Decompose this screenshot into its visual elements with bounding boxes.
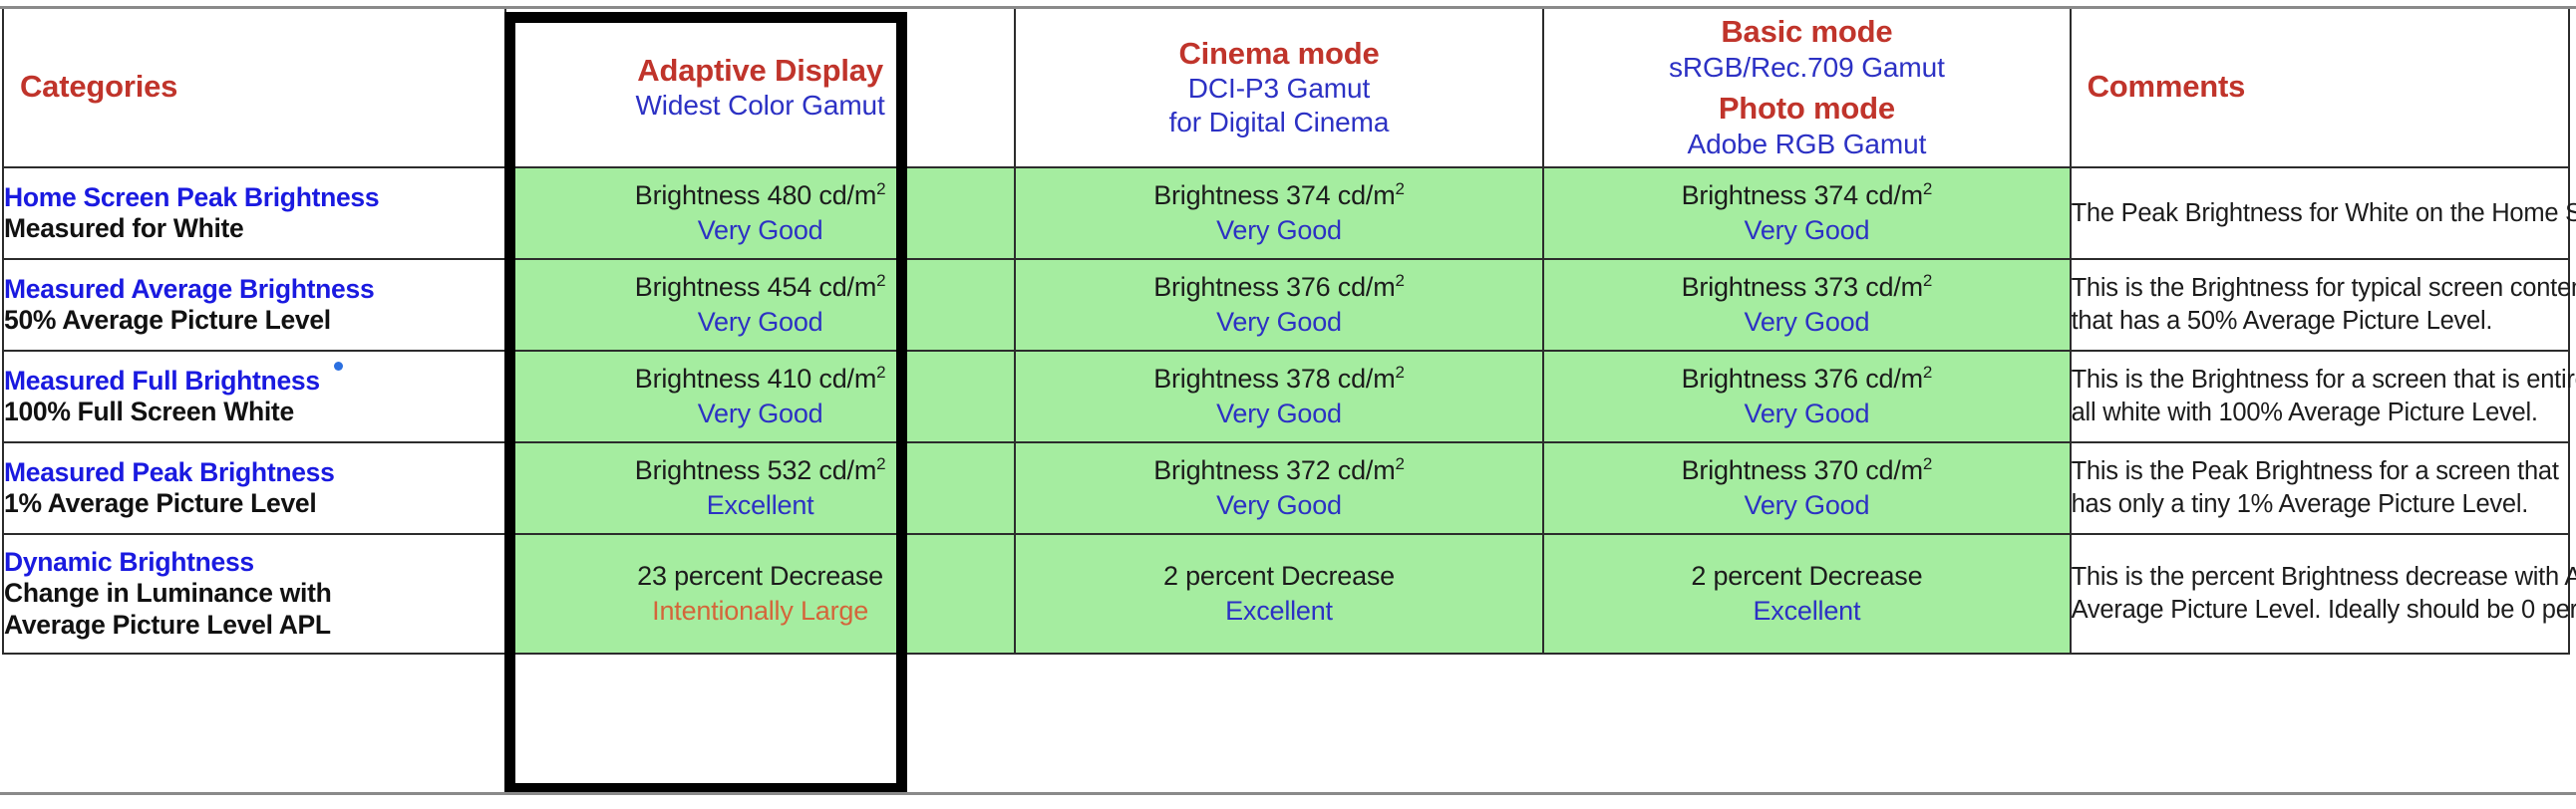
comment-cell: This is the Peak Brightness for a screen… (2071, 442, 2569, 534)
value-exponent: 2 (1396, 179, 1405, 198)
value-cell-adaptive: 23 percent Decrease Intentionally Large (505, 534, 1014, 654)
header-title-categories: Categories (20, 69, 494, 106)
value-cell-adaptive: Brightness 410 cd/m2 Very Good (505, 351, 1014, 442)
header-title-adaptive-display: Adaptive Display (516, 53, 1003, 90)
value-exponent: 2 (1923, 179, 1932, 198)
bottom-rule (0, 792, 2576, 795)
value-text: 2 percent Decrease (1691, 561, 1922, 591)
category-subtitle: Change in Luminance with (4, 578, 504, 610)
rating-label: Very Good (1544, 305, 2069, 340)
header-title-cinema-mode: Cinema mode (1026, 36, 1532, 73)
comment-line: that has a 50% Average Picture Level. (2072, 305, 2568, 339)
rating-label: Very Good (1016, 213, 1542, 248)
category-subtitle: 100% Full Screen White (4, 397, 504, 428)
category-subtitle: Measured for White (4, 213, 504, 245)
header-cell-cinema-mode: Cinema mode DCI-P3 Gamut for Digital Cin… (1015, 7, 1543, 167)
value-cell-adaptive: Brightness 480 cd/m2 Very Good (505, 167, 1014, 259)
comment-line: The Peak Brightness for White on the Hom… (2072, 197, 2568, 231)
value-text: Brightness 378 cd/m (1153, 364, 1395, 394)
table-row: Measured Full Brightness 100% Full Scree… (3, 351, 2569, 442)
comment-line: This is the Peak Brightness for a screen… (2072, 455, 2568, 489)
comment-line: all white with 100% Average Picture Leve… (2072, 397, 2568, 430)
comment-line: This is the Brightness for a screen that… (2072, 364, 2568, 398)
value-text: Brightness 454 cd/m (635, 272, 876, 302)
value-cell-cinema: Brightness 372 cd/m2 Very Good (1015, 442, 1543, 534)
value-text: Brightness 376 cd/m (1153, 272, 1395, 302)
comment-line: This is the percent Brightness decrease … (2072, 561, 2568, 595)
rating-label: Very Good (1016, 305, 1542, 340)
rating-label: Very Good (1016, 397, 1542, 431)
header-title-photo-mode: Photo mode (1554, 91, 2059, 128)
spec-table-sheet: Categories Adaptive Display Widest Color… (0, 6, 2576, 809)
header-sub-adaptive-display: Widest Color Gamut (516, 89, 1003, 123)
header-sub-cinema-usage: for Digital Cinema (1026, 106, 1532, 139)
category-subtitle-2: Average Picture Level APL (4, 610, 504, 642)
rating-label: Very Good (506, 305, 1013, 340)
header-sub-basic-gamut: sRGB/Rec.709 Gamut (1554, 51, 2059, 85)
value-cell-basic: 2 percent Decrease Excellent (1543, 534, 2070, 654)
value-exponent: 2 (1396, 454, 1405, 473)
category-cell: Dynamic Brightness Change in Luminance w… (3, 534, 505, 654)
category-title: Measured Full Brightness (4, 366, 320, 397)
value-text: Brightness 376 cd/m (1682, 364, 1923, 394)
header-title-basic-mode: Basic mode (1554, 14, 2059, 51)
header-title-comments: Comments (2088, 69, 2558, 106)
value-text: 2 percent Decrease (1163, 561, 1395, 591)
table-row: Dynamic Brightness Change in Luminance w… (3, 534, 2569, 654)
category-title: Dynamic Brightness (4, 547, 254, 578)
value-exponent: 2 (1396, 271, 1405, 290)
value-exponent: 2 (1923, 454, 1932, 473)
value-cell-cinema: Brightness 376 cd/m2 Very Good (1015, 259, 1543, 351)
table-row: Home Screen Peak Brightness Measured for… (3, 167, 2569, 259)
value-text: Brightness 374 cd/m (1682, 180, 1923, 210)
comment-line: This is the Brightness for typical scree… (2072, 272, 2568, 306)
value-cell-cinema: 2 percent Decrease Excellent (1015, 534, 1543, 654)
display-spec-table: Categories Adaptive Display Widest Color… (2, 6, 2570, 655)
header-cell-adaptive-display: Adaptive Display Widest Color Gamut (505, 7, 1014, 167)
category-cell: Measured Peak Brightness 1% Average Pict… (3, 442, 505, 534)
header-sub-cinema-gamut: DCI-P3 Gamut (1026, 72, 1532, 106)
category-cell: Home Screen Peak Brightness Measured for… (3, 167, 505, 259)
value-text: Brightness 370 cd/m (1682, 455, 1923, 485)
rating-label: Very Good (1544, 397, 2069, 431)
header-cell-basic-photo-mode: Basic mode sRGB/Rec.709 Gamut Photo mode… (1543, 7, 2070, 167)
value-cell-basic: Brightness 374 cd/m2 Very Good (1543, 167, 2070, 259)
header-cell-comments: Comments (2071, 7, 2569, 167)
comment-line: Average Picture Level. Ideally should be… (2072, 594, 2568, 628)
value-exponent: 2 (876, 363, 885, 382)
value-cell-basic: Brightness 376 cd/m2 Very Good (1543, 351, 2070, 442)
value-text: 23 percent Decrease (637, 561, 883, 591)
value-exponent: 2 (876, 454, 885, 473)
category-title: Measured Average Brightness (4, 274, 374, 305)
value-text: Brightness 372 cd/m (1153, 455, 1395, 485)
value-cell-basic: Brightness 373 cd/m2 Very Good (1543, 259, 2070, 351)
table-header-row: Categories Adaptive Display Widest Color… (3, 7, 2569, 167)
value-text: Brightness 532 cd/m (635, 455, 876, 485)
category-cell: Measured Full Brightness 100% Full Scree… (3, 351, 505, 442)
category-title: Measured Peak Brightness (4, 457, 335, 488)
category-cell: Measured Average Brightness 50% Average … (3, 259, 505, 351)
comment-cell: This is the Brightness for typical scree… (2071, 259, 2569, 351)
value-text: Brightness 480 cd/m (635, 180, 876, 210)
value-exponent: 2 (1923, 271, 1932, 290)
value-cell-adaptive: Brightness 532 cd/m2 Excellent (505, 442, 1014, 534)
rating-label: Excellent (506, 488, 1013, 523)
rating-label: Very Good (1544, 488, 2069, 523)
value-cell-cinema: Brightness 374 cd/m2 Very Good (1015, 167, 1543, 259)
value-exponent: 2 (1923, 363, 1932, 382)
value-exponent: 2 (876, 271, 885, 290)
footnote-dot-icon (334, 362, 343, 371)
value-text: Brightness 373 cd/m (1682, 272, 1923, 302)
table-row: Measured Average Brightness 50% Average … (3, 259, 2569, 351)
header-cell-categories: Categories (3, 7, 505, 167)
comment-cell: The Peak Brightness for White on the Hom… (2071, 167, 2569, 259)
rating-label: Very Good (506, 213, 1013, 248)
rating-label: Excellent (1016, 594, 1542, 629)
header-sub-photo-gamut: Adobe RGB Gamut (1554, 128, 2059, 161)
rating-label: Very Good (506, 397, 1013, 431)
comment-cell: This is the Brightness for a screen that… (2071, 351, 2569, 442)
rating-label: Very Good (1544, 213, 2069, 248)
value-cell-adaptive: Brightness 454 cd/m2 Very Good (505, 259, 1014, 351)
value-cell-cinema: Brightness 378 cd/m2 Very Good (1015, 351, 1543, 442)
category-subtitle: 1% Average Picture Level (4, 488, 504, 520)
rating-label: Intentionally Large (506, 594, 1013, 629)
comment-cell: This is the percent Brightness decrease … (2071, 534, 2569, 654)
value-text: Brightness 374 cd/m (1153, 180, 1395, 210)
value-cell-basic: Brightness 370 cd/m2 Very Good (1543, 442, 2070, 534)
rating-label: Very Good (1016, 488, 1542, 523)
category-title: Home Screen Peak Brightness (4, 182, 379, 213)
value-text: Brightness 410 cd/m (635, 364, 876, 394)
value-exponent: 2 (876, 179, 885, 198)
value-exponent: 2 (1396, 363, 1405, 382)
comment-line: has only a tiny 1% Average Picture Level… (2072, 488, 2568, 522)
category-subtitle: 50% Average Picture Level (4, 305, 504, 337)
rating-label: Excellent (1544, 594, 2069, 629)
top-rule (0, 6, 2576, 9)
table-row: Measured Peak Brightness 1% Average Pict… (3, 442, 2569, 534)
